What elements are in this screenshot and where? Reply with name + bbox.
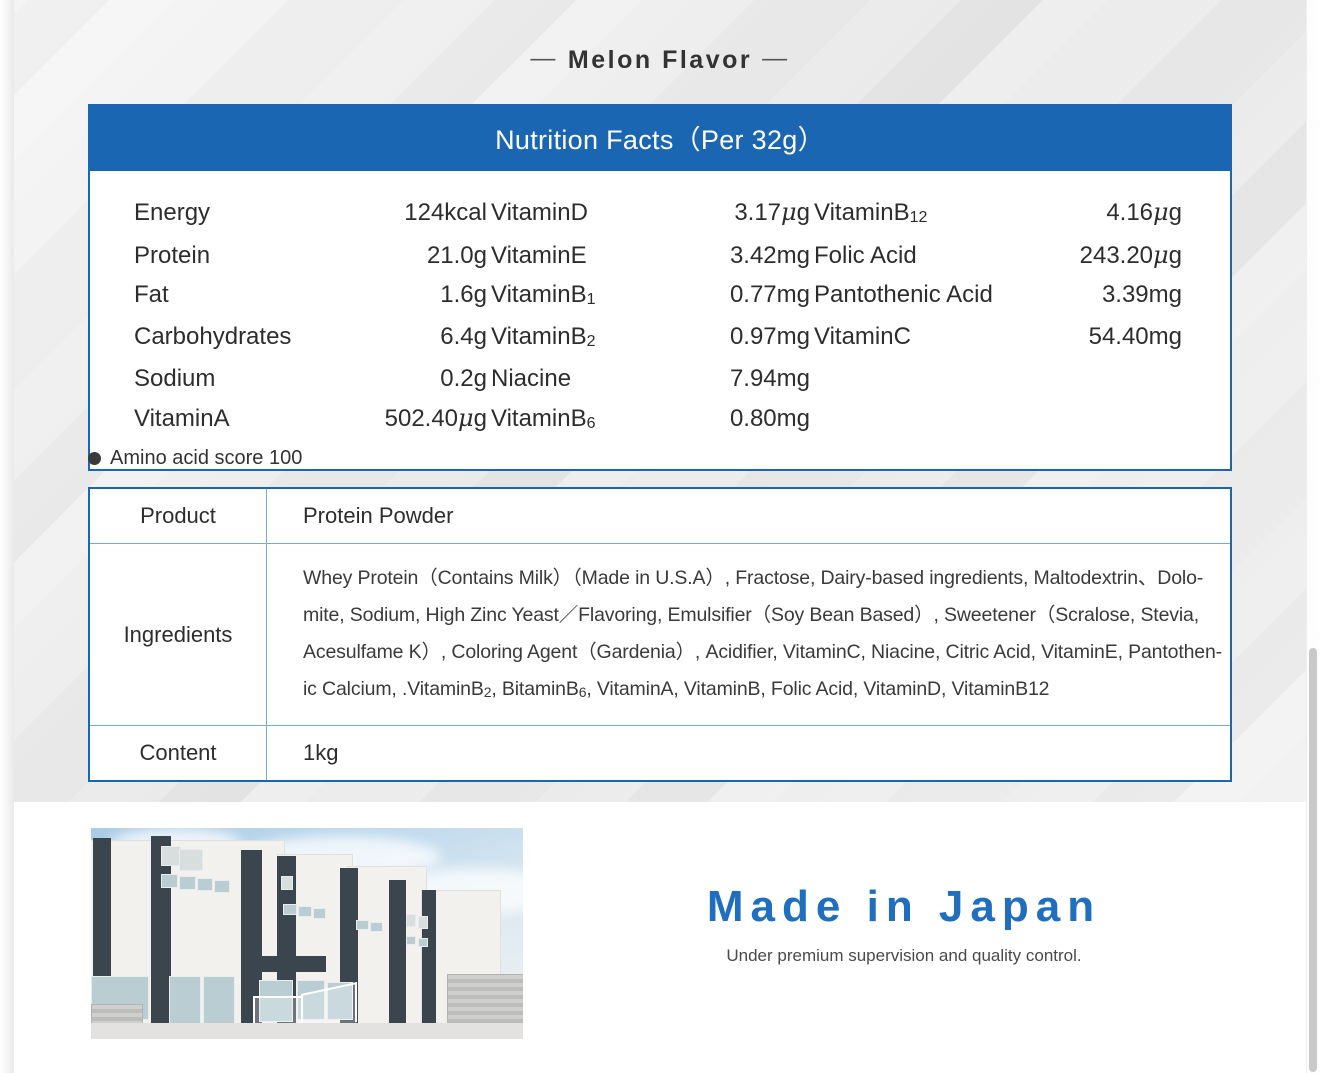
nutrient-value: 0.97mg — [666, 318, 814, 356]
photo-window — [406, 914, 416, 927]
photo-window — [418, 938, 428, 947]
nutrient-label: Niacine — [491, 360, 666, 398]
photo-window — [161, 874, 178, 888]
nutrient-label: VitaminB1 — [491, 276, 666, 317]
table-row-value: 1kg — [267, 726, 1230, 780]
table-row: Product Protein Powder — [90, 489, 1230, 543]
factory-photo — [91, 828, 523, 1039]
ingredients-line: Acesulfame K）, Coloring Agent（Gardenia）,… — [303, 634, 1222, 671]
nutrient-label: Folic Acid — [814, 237, 1034, 275]
photo-window — [356, 920, 369, 930]
photo-window — [298, 906, 312, 917]
nutrition-facts-box: Nutrition Facts（Per 32g） Energy124kcalVi… — [88, 104, 1232, 471]
photo-window — [406, 936, 416, 945]
photo-ground — [91, 1023, 523, 1039]
product-info-page: —Melon Flavor— Nutrition Facts（Per 32g） … — [0, 0, 1320, 1073]
nutrient-value: 243.20μg — [1034, 236, 1186, 275]
ingredients-text: Whey Protein（Contains Milk）（Made in U.S.… — [267, 544, 1242, 725]
photo-window — [214, 880, 230, 893]
table-row-key: Content — [90, 726, 267, 780]
amino-acid-note: Amino acid score 100 — [88, 447, 302, 470]
nutrition-facts-grid: Energy124kcalVitaminD3.17μgVitaminB124.1… — [134, 193, 1186, 441]
ingredients-line: Whey Protein（Contains Milk）（Made in U.S.… — [303, 560, 1222, 597]
flavor-heading: —Melon Flavor— — [14, 46, 1306, 75]
nutrient-value: 124kcal — [359, 194, 491, 232]
dash-right-icon: — — [752, 44, 800, 73]
nutrient-value: 6.4g — [359, 318, 491, 356]
nutrient-label: Fat — [134, 276, 359, 314]
photo-window — [169, 976, 201, 1024]
nutrient-value: 4.16μg — [1034, 193, 1186, 232]
page-scrollbar-thumb[interactable] — [1309, 648, 1317, 1072]
nutrient-value: 7.94mg — [666, 360, 814, 398]
ingredients-line: mite, Sodium, High Zinc Yeast／Flavoring,… — [303, 597, 1222, 634]
table-row: Ingredients Whey Protein（Contains Milk）（… — [90, 543, 1230, 725]
ingredients-line: ic Calcium, .VitaminB2, BitaminB6, Vitam… — [303, 671, 1222, 709]
nutrition-facts-title: Nutrition Facts（Per 32g） — [90, 106, 1230, 171]
nutrient-value: 0.2g — [359, 360, 491, 398]
nutrition-facts-body: Energy124kcalVitaminD3.17μgVitaminB124.1… — [90, 171, 1230, 469]
nutrient-label: VitaminD — [491, 194, 666, 232]
made-in-japan-title: Made in Japan — [634, 884, 1174, 930]
photo-entrance-canopy — [246, 956, 326, 972]
nutrient-value: 21.0g — [359, 237, 491, 275]
photo-window — [283, 904, 297, 915]
made-in-japan-tagline: Under premium supervision and quality co… — [634, 946, 1174, 966]
photo-facade-stripe — [422, 890, 436, 1030]
nutrient-label: Energy — [134, 194, 359, 232]
bullet-icon — [88, 452, 101, 465]
nutrient-value: 1.6g — [359, 276, 491, 314]
nutrient-label: Sodium — [134, 360, 359, 398]
nutrient-label: VitaminB12 — [814, 194, 1034, 235]
nutrient-value: 0.77mg — [666, 276, 814, 314]
nutrient-label: VitaminC — [814, 318, 1034, 356]
photo-window — [197, 878, 213, 891]
photo-window — [418, 916, 428, 929]
table-row-key: Product — [90, 489, 267, 543]
page-gutter-left — [0, 0, 14, 1073]
photo-window — [281, 876, 293, 890]
table-row-key: Ingredients — [90, 544, 267, 725]
product-details-table: Product Protein Powder Ingredients Whey … — [88, 487, 1232, 782]
made-in-japan-block: Made in Japan Under premium supervision … — [634, 884, 1174, 966]
nutrient-label: Pantothenic Acid — [814, 276, 1034, 314]
dash-left-icon: — — [520, 44, 568, 73]
nutrient-label: VitaminB6 — [491, 400, 666, 441]
photo-window — [203, 976, 235, 1024]
nutrient-value: 3.39mg — [1034, 276, 1186, 314]
nutrient-label: Carbohydrates — [134, 318, 359, 356]
nutrient-value: 3.42mg — [666, 237, 814, 275]
photo-window — [179, 876, 196, 890]
photo-window — [370, 922, 383, 932]
photo-window — [313, 908, 326, 919]
nutrient-label: VitaminA — [134, 400, 359, 438]
nutrient-label: VitaminB2 — [491, 318, 666, 359]
amino-acid-note-text: Amino acid score 100 — [110, 447, 302, 470]
nutrient-value: 54.40mg — [1034, 318, 1186, 356]
table-row: Content 1kg — [90, 725, 1230, 780]
flavor-label: Melon Flavor — [568, 46, 752, 74]
table-row-value: Protein Powder — [267, 489, 1230, 543]
made-in-japan-section: Made in Japan Under premium supervision … — [14, 802, 1306, 1073]
nutrient-value: 502.40μg — [359, 399, 491, 438]
photo-facade-stripe — [389, 880, 406, 1030]
photo-window — [179, 849, 203, 871]
nutrient-value: 3.17μg — [666, 193, 814, 232]
nutrient-label: VitaminE — [491, 237, 666, 275]
photo-window — [161, 846, 181, 866]
photo-building-mid2 — [347, 866, 427, 1030]
nutrient-value: 0.80mg — [666, 400, 814, 438]
nutrient-label: Protein — [134, 237, 359, 275]
